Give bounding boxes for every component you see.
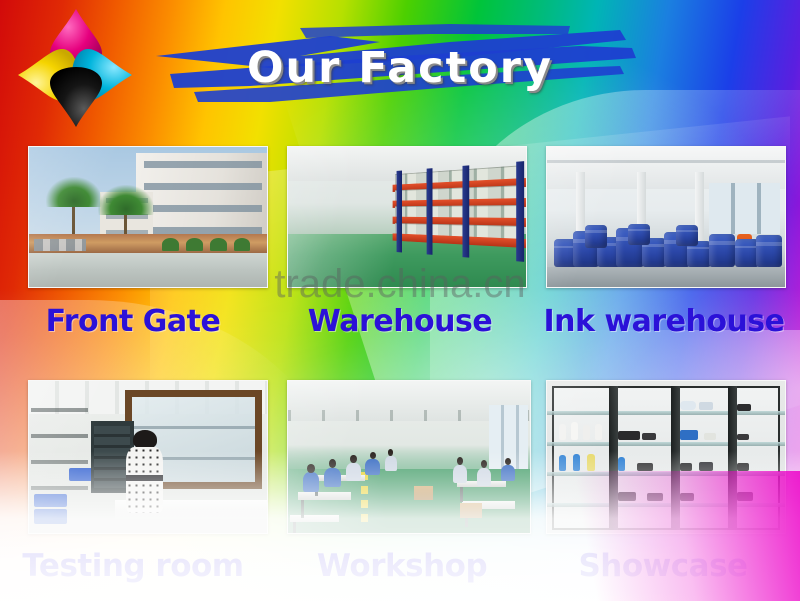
photo-label-row-top: Front Gate Warehouse Ink warehouse xyxy=(0,304,800,346)
warehouse-scene xyxy=(288,147,526,287)
banner-header: Our Factory xyxy=(0,0,800,140)
photo-front-gate xyxy=(28,146,268,288)
photo-warehouse xyxy=(287,146,527,288)
banner-title-block: Our Factory xyxy=(150,22,650,114)
label-ink-warehouse: Ink warehouse xyxy=(530,304,798,346)
label-front-gate: Front Gate xyxy=(0,304,266,346)
front-gate-scene xyxy=(29,147,267,287)
photo-cell-warehouse xyxy=(287,146,527,298)
label-warehouse: Warehouse xyxy=(276,304,524,346)
photo-ink-warehouse xyxy=(546,146,786,288)
page-title: Our Factory xyxy=(150,22,650,114)
ink-warehouse-scene xyxy=(547,147,785,287)
cmyk-ink-drops-logo xyxy=(18,8,128,132)
photo-cell-front-gate xyxy=(28,146,268,298)
our-factory-banner: Our Factory xyxy=(0,0,800,601)
bottom-magenta-glow xyxy=(540,471,800,601)
black-drop-icon xyxy=(48,66,104,128)
photo-cell-ink-warehouse xyxy=(546,146,786,298)
photo-row-top xyxy=(0,146,800,298)
